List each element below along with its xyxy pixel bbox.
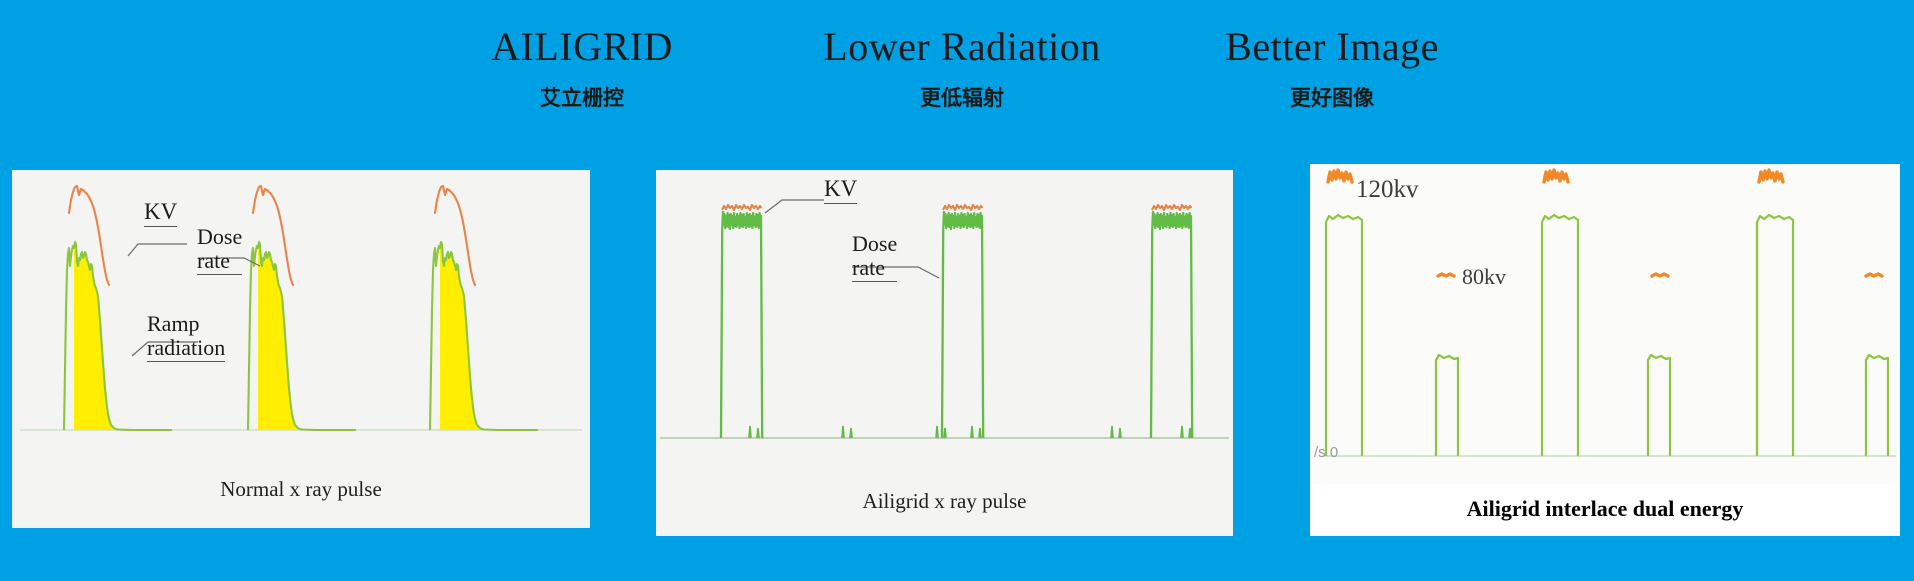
panel-caption-normal: Normal x ray pulse	[12, 477, 590, 502]
dose-rate-annotation-label: Dose rate	[197, 225, 242, 275]
kv-annotation-label: KV	[144, 200, 177, 227]
plot-ailigrid-x-ray-pulse	[656, 170, 1233, 478]
pulse-120kv-3	[1757, 215, 1793, 456]
headline-zh-2: 更低辐射	[920, 82, 1004, 112]
kv-marker-120-3	[1759, 170, 1783, 182]
headline-column-2: Lower Radiation 更低辐射	[802, 24, 1122, 112]
panel-caption-interlace: Ailigrid interlace dual energy	[1310, 496, 1900, 522]
pulse-group-3	[430, 186, 538, 430]
pulse-80kv-1	[1436, 355, 1458, 456]
headline-en-2: Lower Radiation	[823, 24, 1100, 70]
kv-marker-120-1	[1328, 170, 1352, 182]
pulse-group-2	[248, 186, 356, 430]
headline-zh-1: 艾立栅控	[540, 82, 624, 112]
panel-normal-x-ray-pulse: KV Dose rate Ramp radiation Normal x ray…	[12, 170, 590, 528]
square-pulse-2	[942, 205, 983, 438]
kv-marker-120-2	[1544, 170, 1568, 182]
ramp-radiation-annotation-label: Ramp radiation	[147, 312, 225, 362]
headline-column-3: Better Image 更好图像	[1172, 24, 1492, 112]
kv-annotation-label: KV	[824, 177, 857, 204]
panel-caption-ailigrid: Ailigrid x ray pulse	[656, 489, 1233, 514]
plot-normal-x-ray-pulse	[12, 170, 590, 470]
pulse-80kv-2	[1648, 355, 1670, 456]
headline-column-1: AILIGRID 艾立栅控	[422, 24, 742, 112]
axis-unit-label: /s 0	[1314, 444, 1338, 461]
pulse-120kv-2	[1542, 215, 1578, 456]
headline-zh-3: 更好图像	[1290, 82, 1374, 112]
kv-low-label: 80kv	[1462, 264, 1506, 290]
kv-marker-80-3	[1866, 274, 1882, 276]
dose-rate-annotation-label: Dose rate	[852, 232, 897, 282]
kv-leader-line	[128, 244, 187, 256]
plot-interlace-dual-energy	[1310, 164, 1900, 484]
headline-en-1: AILIGRID	[491, 24, 673, 70]
square-pulse-1	[721, 205, 762, 438]
kv-marker-80-1	[1438, 274, 1454, 276]
kv-leader-line	[765, 200, 824, 213]
headline-banner: AILIGRID 艾立栅控 Lower Radiation 更低辐射 Bette…	[0, 24, 1914, 134]
pulse-80kv-3	[1866, 355, 1888, 456]
headline-en-3: Better Image	[1225, 24, 1439, 70]
pulse-120kv-1	[1326, 215, 1362, 456]
square-pulse-3	[1151, 205, 1192, 438]
baseline-blips	[749, 426, 1191, 438]
kv-marker-80-2	[1652, 274, 1668, 276]
panel-ailigrid-x-ray-pulse: KV Dose rate Ailigrid x ray pulse	[656, 170, 1233, 536]
panel-ailigrid-interlace-dual-energy: 120kv 80kv /s 0 Ailigrid interlace dual …	[1310, 164, 1900, 536]
kv-high-label: 120kv	[1356, 176, 1419, 204]
chart-panels: KV Dose rate Ramp radiation Normal x ray…	[0, 164, 1914, 544]
